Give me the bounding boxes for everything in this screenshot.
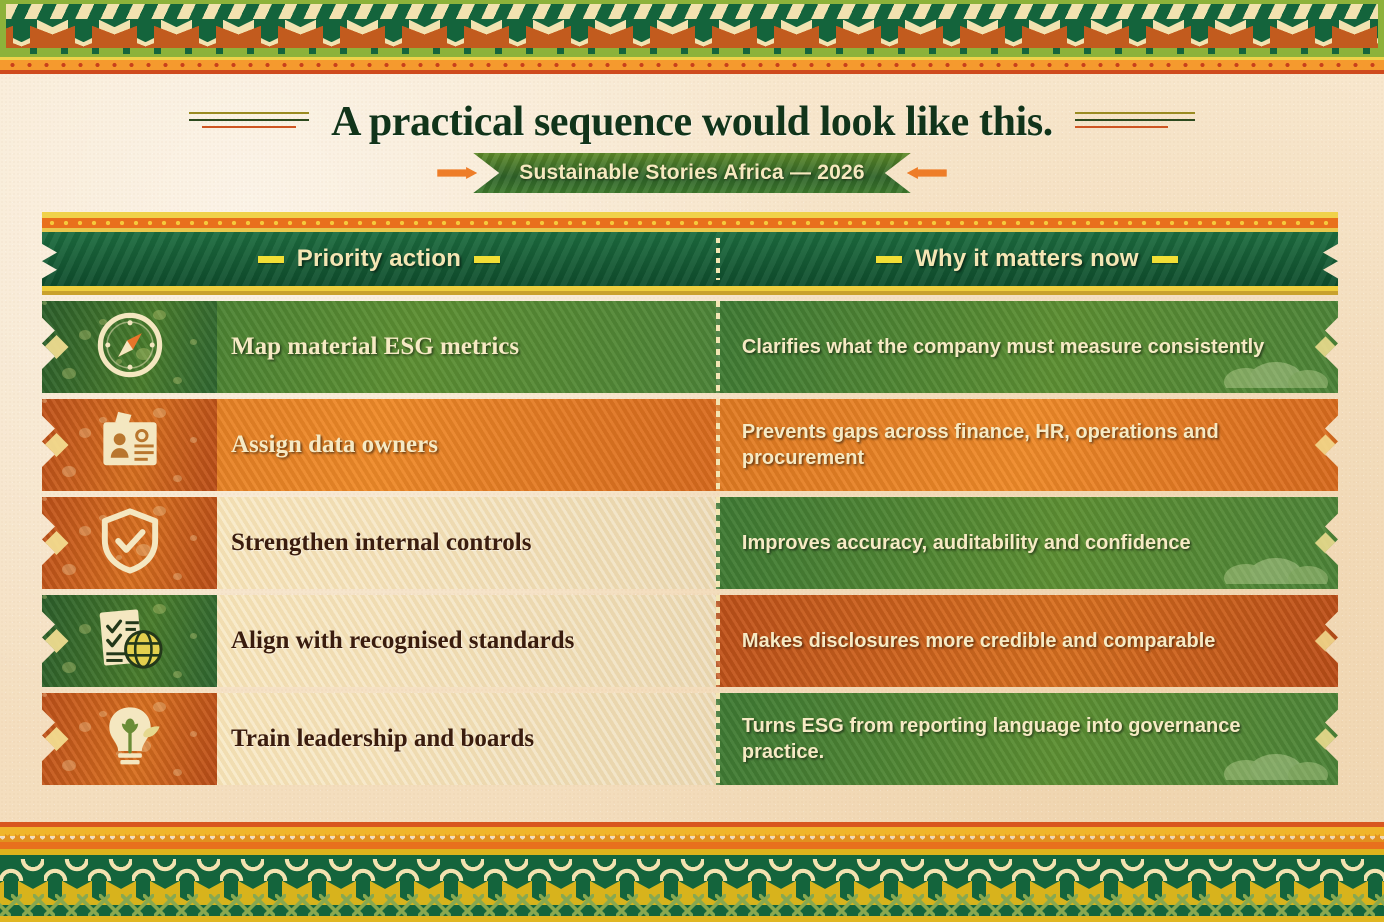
table-cell-action: Assign data owners <box>42 399 716 491</box>
table-row[interactable]: Align with recognised standardsMakes dis… <box>42 595 1338 687</box>
table-cell-action: Train leadership and boards <box>42 693 716 785</box>
texture-speck <box>173 671 182 678</box>
column-header-label: Why it matters now <box>915 245 1139 273</box>
bottom-border-foot-stripe <box>0 916 1384 922</box>
foliage-decoration <box>1222 746 1332 785</box>
top-border-inner-panel <box>6 4 1378 54</box>
table-cell-action: Align with recognised standards <box>42 595 716 687</box>
top-border-orange-strip <box>0 60 1384 70</box>
subtitle-text: Sustainable Stories Africa — 2026 <box>519 161 864 185</box>
action-label: Assign data owners <box>217 431 438 460</box>
action-label: Strengthen internal controls <box>217 529 531 558</box>
dash-icon <box>876 256 902 263</box>
table-cell-action: Map material ESG metrics <box>42 301 716 393</box>
texture-speck <box>62 466 76 477</box>
texture-speck <box>173 769 182 776</box>
texture-speck <box>62 564 76 575</box>
table-row[interactable]: Strengthen internal controlsImproves acc… <box>42 497 1338 589</box>
bottom-decorative-border <box>0 822 1384 922</box>
texture-speck <box>42 399 47 403</box>
table-cell-reason: Clarifies what the company must measure … <box>716 301 1338 393</box>
top-border-green-arcs <box>6 48 1378 54</box>
subtitle-row: Sustainable Stories Africa — 2026 <box>0 152 1384 194</box>
texture-speck <box>173 377 182 384</box>
texture-speck <box>79 330 91 340</box>
action-label: Map material ESG metrics <box>217 333 519 362</box>
lightbulb-plant-icon <box>93 700 167 779</box>
top-decorative-border <box>0 0 1384 70</box>
texture-speck <box>42 301 47 305</box>
compass-icon <box>93 308 167 387</box>
texture-speck <box>62 662 76 673</box>
table-row[interactable]: Assign data ownersPrevents gaps across f… <box>42 399 1338 491</box>
texture-speck <box>79 526 91 536</box>
texture-speck <box>190 731 197 737</box>
reason-text: Prevents gaps across finance, HR, operat… <box>742 419 1316 472</box>
table-top-dot-band <box>42 218 1338 228</box>
texture-speck <box>190 535 197 541</box>
header-column-divider <box>716 238 720 280</box>
table-header-underline-2 <box>42 291 1338 295</box>
page-title: A practical sequence would look like thi… <box>331 98 1053 146</box>
title-rule-left <box>189 112 309 133</box>
foliage-decoration <box>1222 354 1332 393</box>
checklist-globe-icon <box>93 602 167 681</box>
bottom-border-chevrons <box>0 894 1384 916</box>
texture-speck <box>42 693 47 697</box>
texture-speck <box>42 595 47 599</box>
action-label: Align with recognised standards <box>217 627 574 656</box>
table-cell-reason: Turns ESG from reporting language into g… <box>716 693 1338 785</box>
title-row: A practical sequence would look like thi… <box>0 96 1384 148</box>
row-column-divider <box>716 497 720 589</box>
table-cell-reason: Makes disclosures more credible and comp… <box>716 595 1338 687</box>
row-column-divider <box>716 693 720 785</box>
table-cell-action: Strengthen internal controls <box>42 497 716 589</box>
table-header-cell-reason: Why it matters now <box>716 232 1338 286</box>
foliage-decoration <box>1222 550 1332 589</box>
table-row[interactable]: Map material ESG metricsClarifies what t… <box>42 301 1338 393</box>
id-card-icon <box>93 406 167 485</box>
bottom-border-orange-stripe <box>0 842 1384 849</box>
top-border-diagonal-dashes <box>6 4 1378 19</box>
top-border-red-line <box>0 70 1384 74</box>
table-row[interactable]: Train leadership and boardsTurns ESG fro… <box>42 693 1338 785</box>
dash-icon <box>1152 256 1178 263</box>
texture-speck <box>79 624 91 634</box>
top-border-dot-row <box>0 60 1384 70</box>
texture-speck <box>190 339 197 345</box>
dash-icon <box>258 256 284 263</box>
table-header-row: Priority action Why it matters now <box>42 232 1338 286</box>
texture-speck <box>62 760 76 771</box>
bottom-border-zigzag-strip <box>0 834 1384 842</box>
row-column-divider <box>716 399 720 491</box>
reason-text: Clarifies what the company must measure … <box>742 334 1264 360</box>
bottom-border-cream-wave <box>0 859 1384 881</box>
texture-speck <box>62 368 76 379</box>
texture-speck <box>42 497 47 501</box>
table-body: Map material ESG metricsClarifies what t… <box>42 301 1338 785</box>
arrow-left-icon <box>437 167 477 179</box>
top-border-orange-triangles <box>6 26 1378 50</box>
title-rule-right <box>1075 112 1195 133</box>
table-cell-reason: Prevents gaps across finance, HR, operat… <box>716 399 1338 491</box>
shield-check-icon <box>93 504 167 583</box>
table-top-gold-strip-2 <box>42 228 1338 232</box>
dash-icon <box>474 256 500 263</box>
table-header-cell-action: Priority action <box>42 232 716 286</box>
arrow-right-icon <box>907 167 947 179</box>
reason-text: Makes disclosures more credible and comp… <box>742 628 1216 654</box>
subtitle-ribbon: Sustainable Stories Africa — 2026 <box>473 153 910 193</box>
texture-speck <box>173 475 182 482</box>
texture-speck <box>79 428 91 438</box>
action-label: Train leadership and boards <box>217 725 534 754</box>
texture-speck <box>173 573 182 580</box>
texture-speck <box>190 437 197 443</box>
row-column-divider <box>716 301 720 393</box>
column-header-label: Priority action <box>297 245 461 273</box>
texture-speck <box>79 722 91 732</box>
texture-speck <box>190 633 197 639</box>
row-column-divider <box>716 595 720 687</box>
table-cell-reason: Improves accuracy, auditability and conf… <box>716 497 1338 589</box>
priority-action-table: Priority action Why it matters now Map m… <box>42 212 1338 785</box>
bottom-border-green-panel <box>0 855 1384 916</box>
reason-text: Improves accuracy, auditability and conf… <box>742 530 1191 556</box>
